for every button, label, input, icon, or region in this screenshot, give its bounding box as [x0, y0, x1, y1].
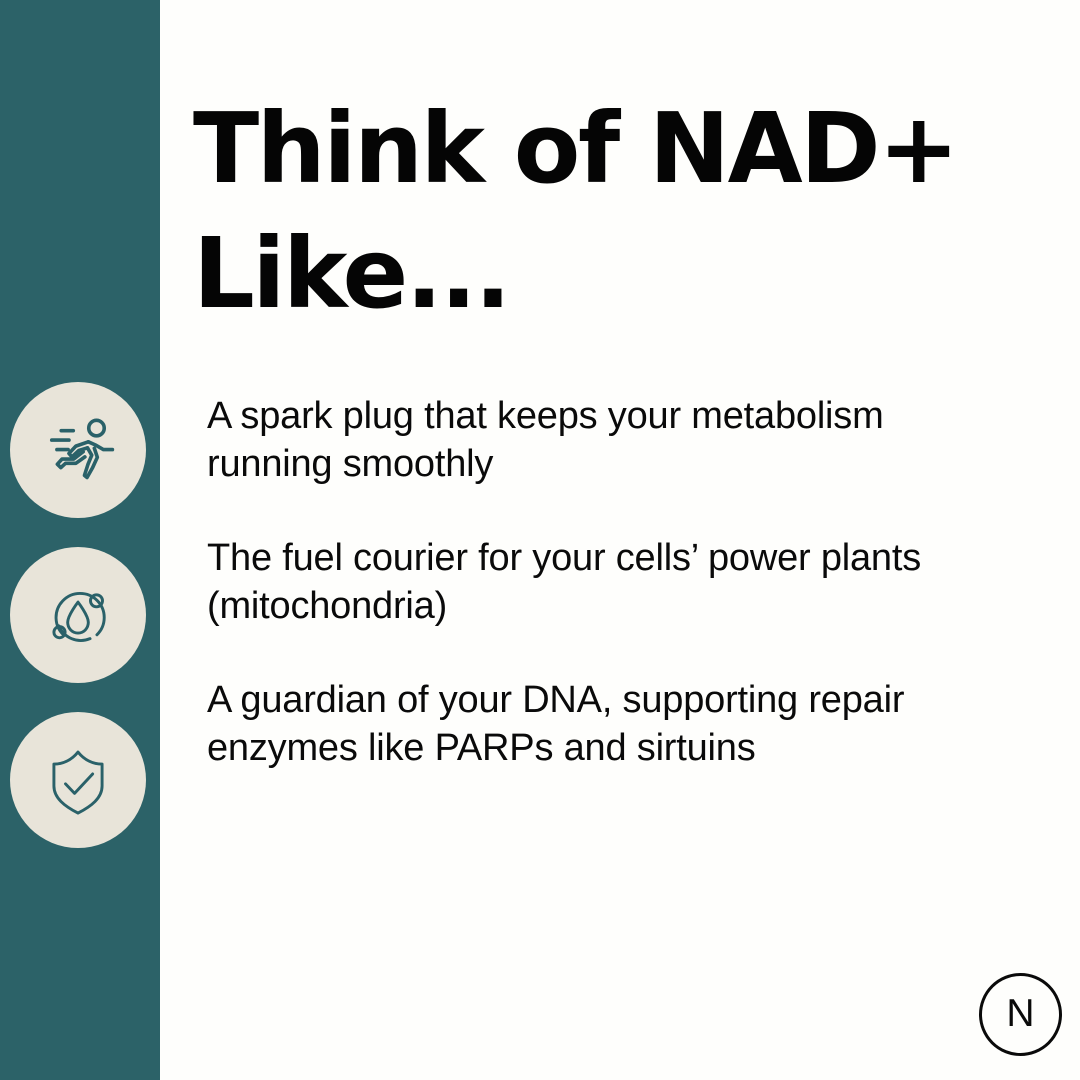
icon-badge-shield	[10, 712, 146, 848]
icon-badge-droplet	[10, 547, 146, 683]
bullet-item-3: A guardian of your DNA, supporting repai…	[207, 676, 1007, 772]
brand-logo: N	[979, 973, 1062, 1056]
sidebar-icon-stack	[0, 0, 160, 1080]
bullet-item-1: A spark plug that keeps your metabolism …	[207, 392, 1007, 488]
bullet-list: A spark plug that keeps your metabolism …	[207, 392, 1007, 772]
brand-logo-letter: N	[1006, 994, 1034, 1033]
social-card: Think of NAD+ Like... A spark plug that …	[0, 0, 1080, 1080]
running-person-icon	[35, 407, 121, 493]
droplet-orbit-icon	[35, 572, 121, 658]
icon-badge-running	[10, 382, 146, 518]
content-column: Think of NAD+ Like... A spark plug that …	[193, 0, 1023, 1080]
shield-check-icon	[35, 737, 121, 823]
bullet-item-2: The fuel courier for your cells’ power p…	[207, 534, 1007, 630]
page-title: Think of NAD+ Like...	[193, 86, 1013, 336]
